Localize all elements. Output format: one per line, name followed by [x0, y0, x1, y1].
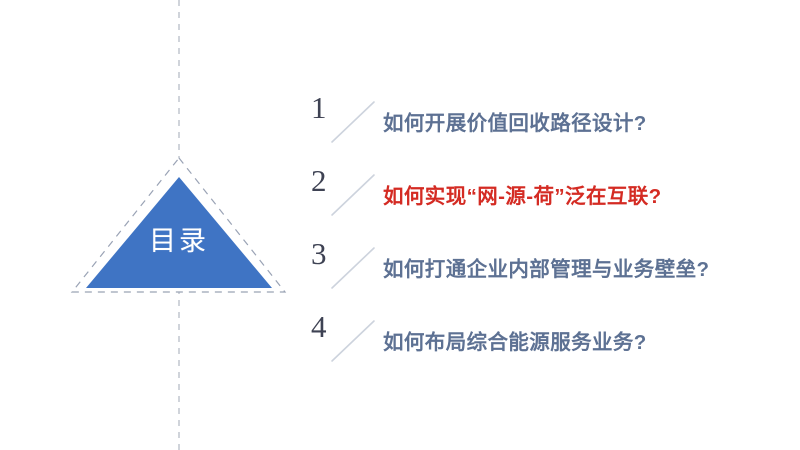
slash-divider-icon: [330, 173, 376, 217]
agenda-item-3[interactable]: 3 如何打通企业内部管理与业务壁垒?: [300, 238, 800, 311]
agenda-item-2-text: 如何实现“网-源-荷”泛在互联?: [383, 184, 662, 210]
agenda-item-4-number: 4: [311, 311, 327, 342]
agenda-item-4-text: 如何布局综合能源服务业务?: [383, 330, 647, 356]
agenda-item-3-number: 3: [311, 238, 327, 269]
slide-canvas: 目录 1 如何开展价值回收路径设计? 2 如何实现“网-源-荷”泛在互联? 3 …: [0, 0, 800, 450]
toc-emblem: 目录: [0, 0, 330, 450]
slash-divider-icon: [330, 246, 376, 290]
agenda-item-3-text: 如何打通企业内部管理与业务壁垒?: [383, 257, 709, 283]
agenda-item-1-text: 如何开展价值回收路径设计?: [383, 111, 647, 137]
slash-divider-icon: [330, 319, 376, 363]
agenda-list: 1 如何开展价值回收路径设计? 2 如何实现“网-源-荷”泛在互联? 3 如何打…: [300, 92, 800, 392]
agenda-item-4[interactable]: 4 如何布局综合能源服务业务?: [300, 311, 800, 384]
toc-title-label: 目录: [104, 228, 254, 255]
triangle-graphic: [0, 0, 330, 450]
slash-divider-icon: [330, 100, 376, 144]
agenda-item-2-number: 2: [311, 165, 327, 196]
agenda-item-1[interactable]: 1 如何开展价值回收路径设计?: [300, 92, 800, 165]
agenda-item-2[interactable]: 2 如何实现“网-源-荷”泛在互联?: [300, 165, 800, 238]
agenda-item-1-number: 1: [311, 92, 327, 123]
